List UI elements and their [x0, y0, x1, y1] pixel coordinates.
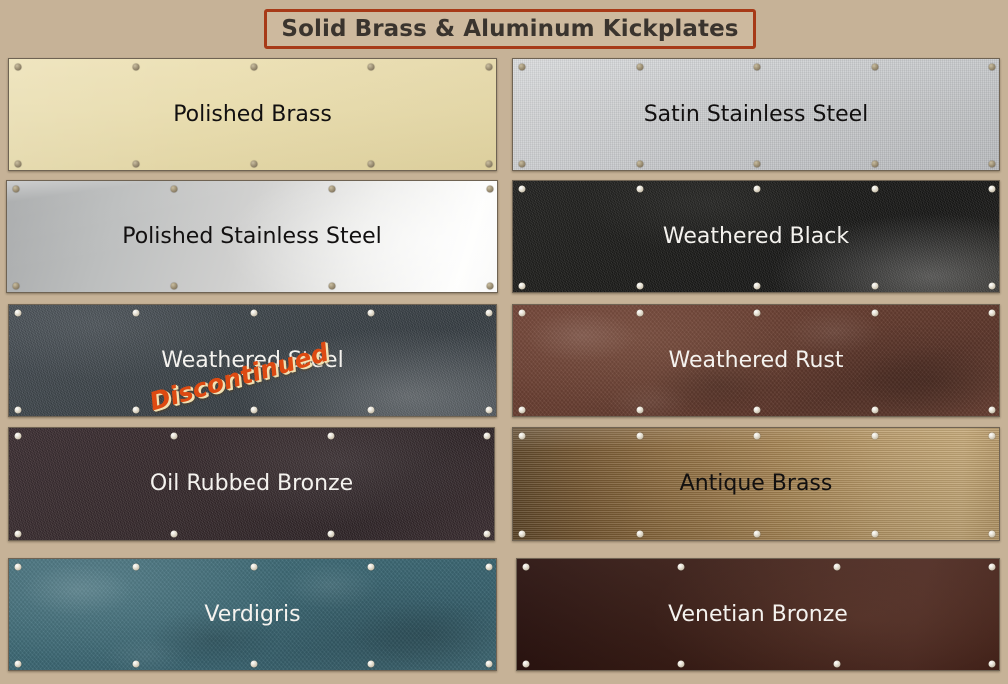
kickplate-swatch[interactable]: Polished Stainless Steel: [6, 180, 498, 293]
kickplate-card[interactable]: Polished Brass: [8, 58, 497, 171]
kickplate-swatch[interactable]: Satin Stainless Steel: [512, 58, 1000, 171]
page-title-banner: Solid Brass & Aluminum Kickplates: [264, 9, 756, 49]
kickplate-card[interactable]: Weathered SteelDiscontinued: [8, 304, 497, 417]
kickplate-finish-label: Weathered Rust: [513, 305, 999, 416]
kickplate-card[interactable]: Weathered Black: [512, 180, 1000, 293]
kickplate-swatch[interactable]: Venetian Bronze: [516, 558, 1000, 671]
kickplate-finish-label: Weathered Black: [513, 181, 999, 292]
kickplate-finish-label: Satin Stainless Steel: [513, 59, 999, 170]
kickplate-card[interactable]: Verdigris: [8, 558, 497, 671]
kickplate-card[interactable]: Oil Rubbed Bronze: [8, 427, 495, 541]
kickplate-card[interactable]: Antique Brass: [512, 427, 1000, 541]
kickplate-finish-label: Oil Rubbed Bronze: [9, 428, 494, 540]
kickplate-card[interactable]: Venetian Bronze: [516, 558, 1000, 671]
kickplate-finish-label: Polished Brass: [9, 59, 496, 170]
kickplate-finish-label: Venetian Bronze: [517, 559, 999, 670]
kickplate-finish-label: Weathered Steel: [9, 305, 496, 416]
kickplate-finish-label: Polished Stainless Steel: [7, 181, 497, 292]
kickplate-gallery: Polished BrassSatin Stainless SteelPolis…: [0, 57, 1008, 677]
kickplate-swatch[interactable]: Weathered Black: [512, 180, 1000, 293]
kickplate-swatch[interactable]: Oil Rubbed Bronze: [8, 427, 495, 541]
kickplate-card[interactable]: Weathered Rust: [512, 304, 1000, 417]
kickplate-swatch[interactable]: Weathered SteelDiscontinued: [8, 304, 497, 417]
kickplate-swatch[interactable]: Polished Brass: [8, 58, 497, 171]
page-title: Solid Brass & Aluminum Kickplates: [281, 16, 738, 42]
kickplate-swatch[interactable]: Verdigris: [8, 558, 497, 671]
kickplate-card[interactable]: Satin Stainless Steel: [512, 58, 1000, 171]
kickplate-swatch[interactable]: Weathered Rust: [512, 304, 1000, 417]
kickplate-finish-label: Verdigris: [9, 559, 496, 670]
kickplate-finish-label: Antique Brass: [513, 428, 999, 540]
kickplate-swatch[interactable]: Antique Brass: [512, 427, 1000, 541]
kickplate-card[interactable]: Polished Stainless Steel: [6, 180, 498, 293]
